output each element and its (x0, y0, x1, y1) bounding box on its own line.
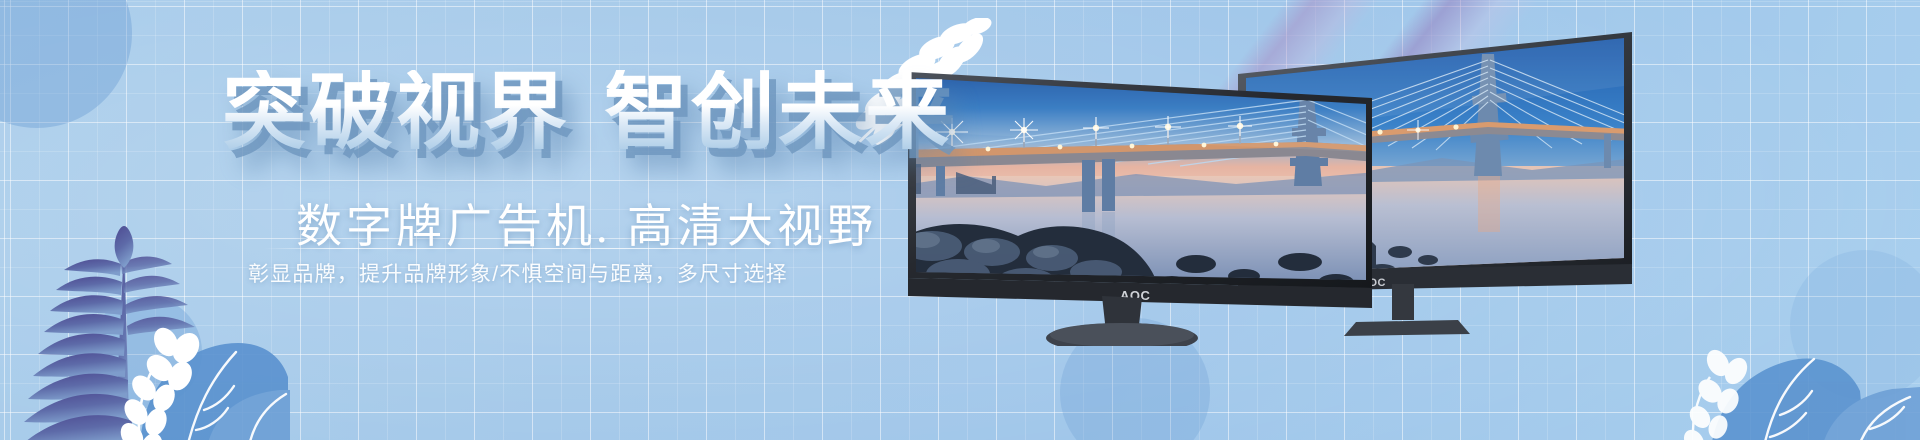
divider-rule (264, 248, 824, 249)
tagline: 彰显品牌，提升品牌形象/不惧空间与距离，多尺寸选择 (248, 258, 788, 288)
monitor-stand-neck (1392, 284, 1414, 320)
promo-banner: AOC (0, 0, 1920, 440)
copy-block: 突破视界智创未来 数字牌广告机. 高清大视野 彰显品牌，提升品牌形象/不惧空间与… (0, 0, 900, 440)
monitor-icon: AOC (896, 46, 1376, 346)
headline-part1: 突破视界 (222, 65, 570, 159)
headline-part2: 智创未来 (604, 65, 952, 159)
decorative-circle-right (1790, 250, 1920, 400)
subtitle: 数字牌广告机. 高清大视野 (296, 190, 877, 256)
page-title: 突破视界智创未来 (222, 70, 952, 154)
